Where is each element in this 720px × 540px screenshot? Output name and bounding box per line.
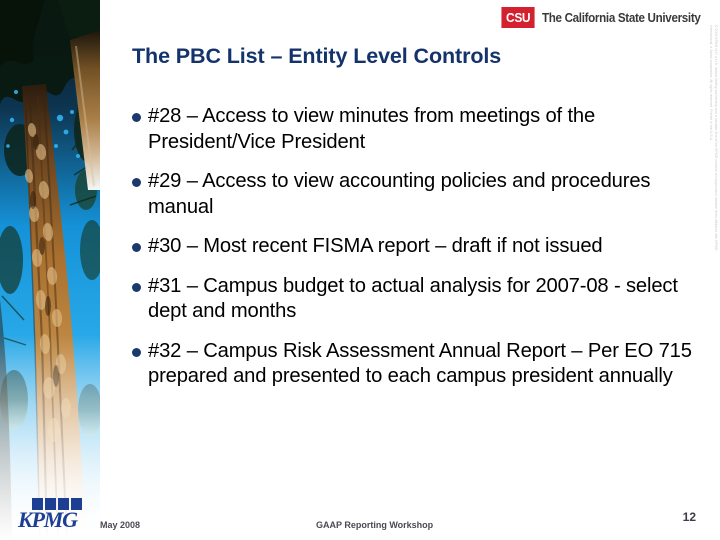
footer-title: GAAP Reporting Workshop: [316, 520, 433, 530]
csu-logo: CSU The California State University: [500, 7, 712, 28]
kpmg-logo: KPMG: [18, 498, 96, 532]
footer-date: May 2008: [100, 520, 140, 530]
list-item: #29 – Access to view accounting policies…: [132, 169, 692, 220]
list-item-text: #32 – Campus Risk Assessment Annual Repo…: [148, 339, 692, 390]
bullet-dot-icon: [132, 113, 141, 122]
csu-mark-icon: CSU: [502, 7, 535, 28]
list-item-text: #29 – Access to view accounting policies…: [148, 169, 692, 220]
list-item-text: #30 – Most recent FISMA report – draft i…: [148, 234, 603, 260]
redwood-trees-sky-photo: [0, 0, 100, 540]
page-title: The PBC List – Entity Level Controls: [132, 44, 501, 69]
bullet-dot-icon: [132, 243, 141, 252]
list-item: #32 – Campus Risk Assessment Annual Repo…: [132, 339, 692, 390]
presentation-slide: CSU The California State University The …: [0, 0, 720, 540]
list-item: #31 – Campus budget to actual analysis f…: [132, 274, 692, 325]
side-copyright-notice: © 2008 KPMG LLP, a U.S. limited liabilit…: [709, 25, 718, 255]
csu-wordmark: The California State University: [542, 11, 701, 25]
bullet-list: #28 – Access to view minutes from meetin…: [132, 104, 692, 404]
kpmg-wordmark: KPMG: [18, 510, 96, 530]
list-item: #30 – Most recent FISMA report – draft i…: [132, 234, 692, 260]
bullet-dot-icon: [132, 178, 141, 187]
bullet-dot-icon: [132, 283, 141, 292]
page-number: 12: [683, 510, 696, 524]
list-item-text: #28 – Access to view minutes from meetin…: [148, 104, 692, 155]
bullet-dot-icon: [132, 348, 141, 357]
list-item-text: #31 – Campus budget to actual analysis f…: [148, 274, 692, 325]
list-item: #28 – Access to view minutes from meetin…: [132, 104, 692, 155]
